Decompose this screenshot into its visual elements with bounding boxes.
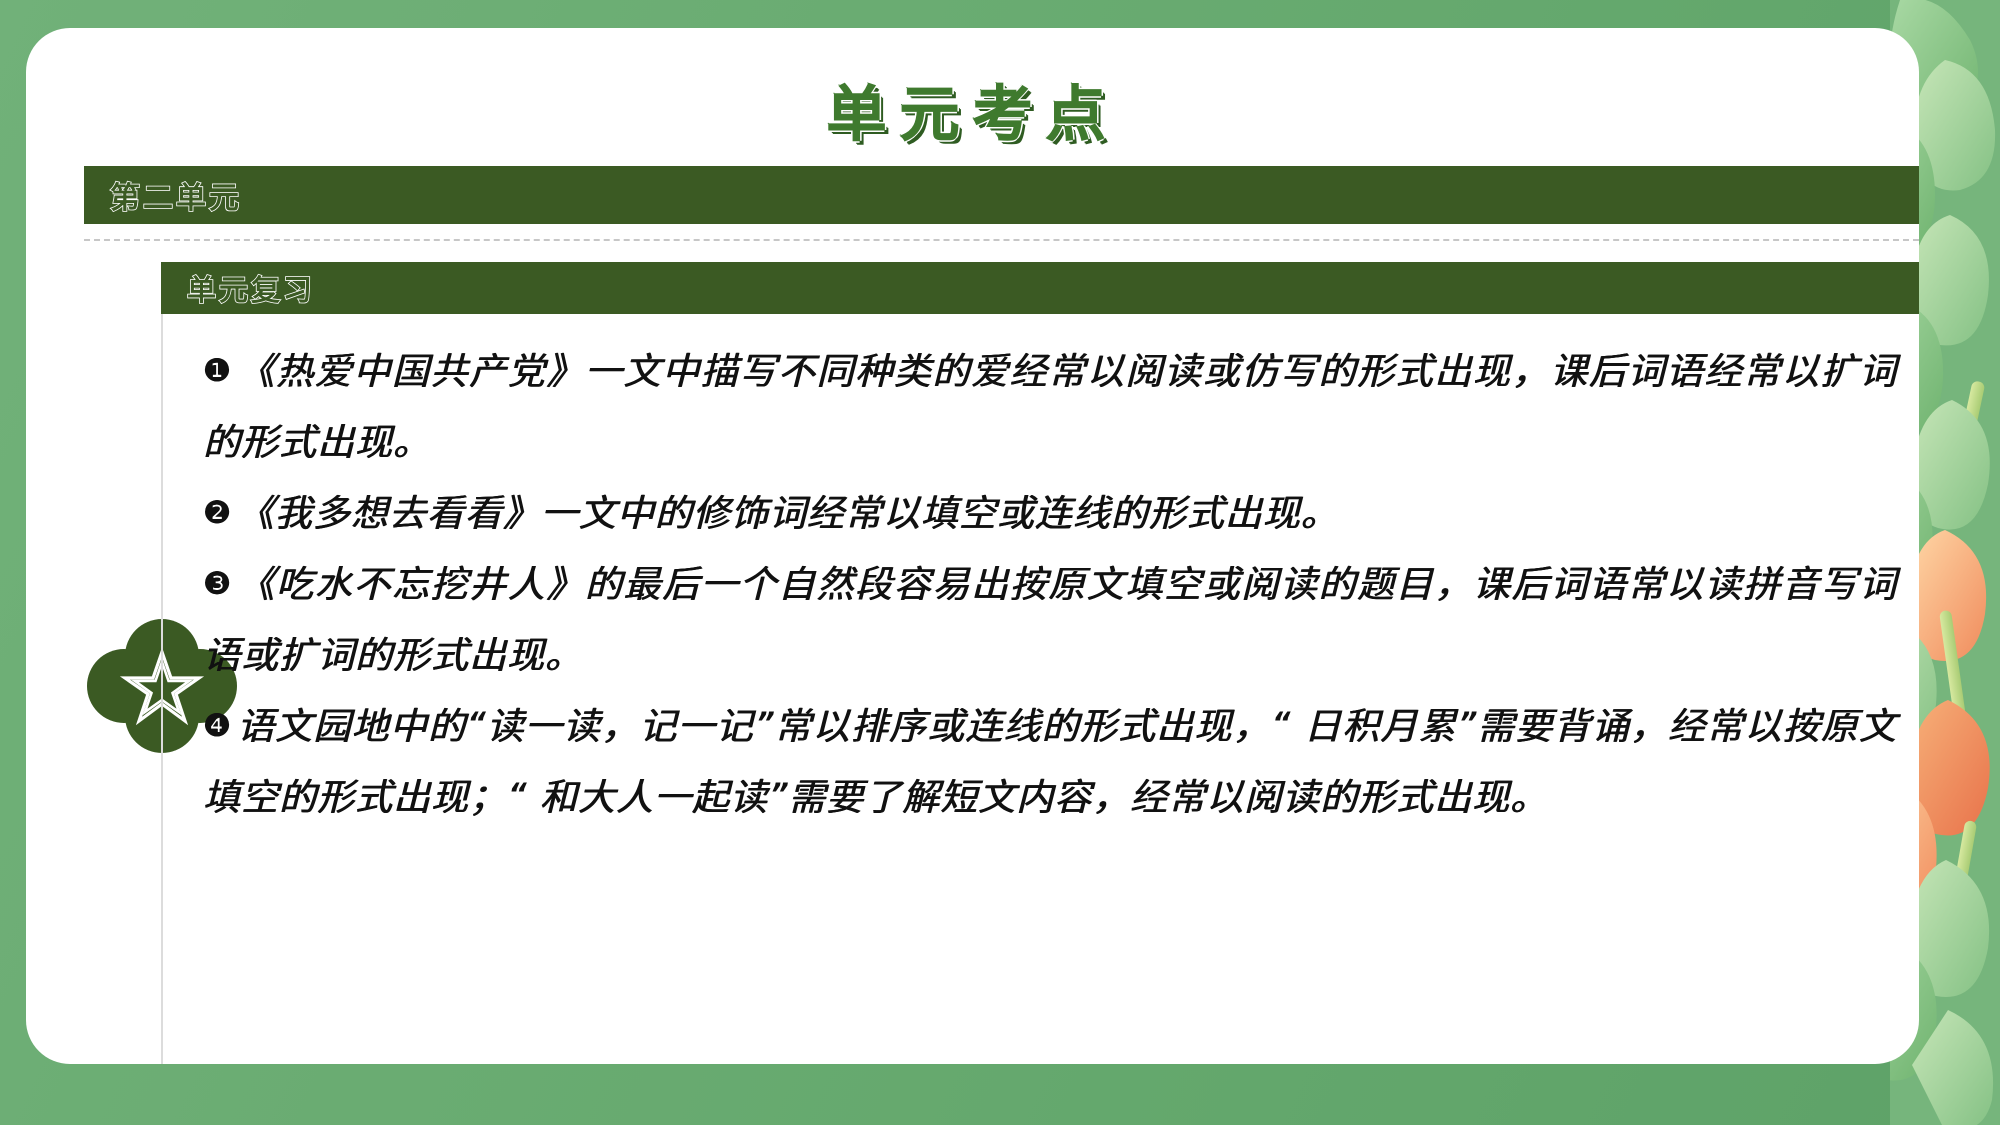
- list-item-text: 语文园地中的“读一读，记一记”常以排序或连线的形式出现，“ 日积月累”需要背诵，…: [203, 705, 1897, 819]
- list-item-text: 《热爱中国共产党》一文中描写不同种类的爱经常以阅读或仿写的形式出现，课后词语经常…: [203, 350, 1897, 464]
- list-item: ❷《我多想去看看》一文中的修饰词经常以填空或连线的形式出现。: [203, 478, 1897, 549]
- unit-header-label: 第二单元: [110, 173, 242, 217]
- content-text: ❶《热爱中国共产党》一文中描写不同种类的爱经常以阅读或仿写的形式出现，课后词语经…: [203, 336, 1897, 833]
- page-title-text: 单元考点: [827, 66, 1119, 153]
- list-item-marker: ❸: [203, 566, 231, 602]
- list-item-text: 《吃水不忘挖井人》的最后一个自然段容易出按原文填空或阅读的题目，课后词语常以读拼…: [203, 563, 1897, 677]
- dashed-divider: [84, 239, 1919, 241]
- list-item-marker: ❹: [203, 708, 231, 744]
- list-item: ❹语文园地中的“读一读，记一记”常以排序或连线的形式出现，“ 日积月累”需要背诵…: [203, 691, 1897, 833]
- slide-card: 单元考点 第二单元 单元复习 ❶《热爱中国共产党: [26, 28, 1919, 1064]
- content-panel: ❶《热爱中国共产党》一文中描写不同种类的爱经常以阅读或仿写的形式出现，课后词语经…: [161, 314, 1919, 1064]
- section-header-bar: 单元复习: [161, 262, 1919, 314]
- unit-header-bar: 第二单元: [84, 166, 1919, 224]
- list-item-marker: ❷: [203, 495, 231, 531]
- list-item-marker: ❶: [203, 353, 231, 389]
- list-item: ❶《热爱中国共产党》一文中描写不同种类的爱经常以阅读或仿写的形式出现，课后词语经…: [203, 336, 1897, 478]
- page-title: 单元考点: [26, 66, 1919, 153]
- list-item-text: 《我多想去看看》一文中的修饰词经常以填空或连线的形式出现。: [237, 492, 1339, 535]
- list-item: ❸《吃水不忘挖井人》的最后一个自然段容易出按原文填空或阅读的题目，课后词语常以读…: [203, 549, 1897, 691]
- section-header-label: 单元复习: [187, 267, 315, 309]
